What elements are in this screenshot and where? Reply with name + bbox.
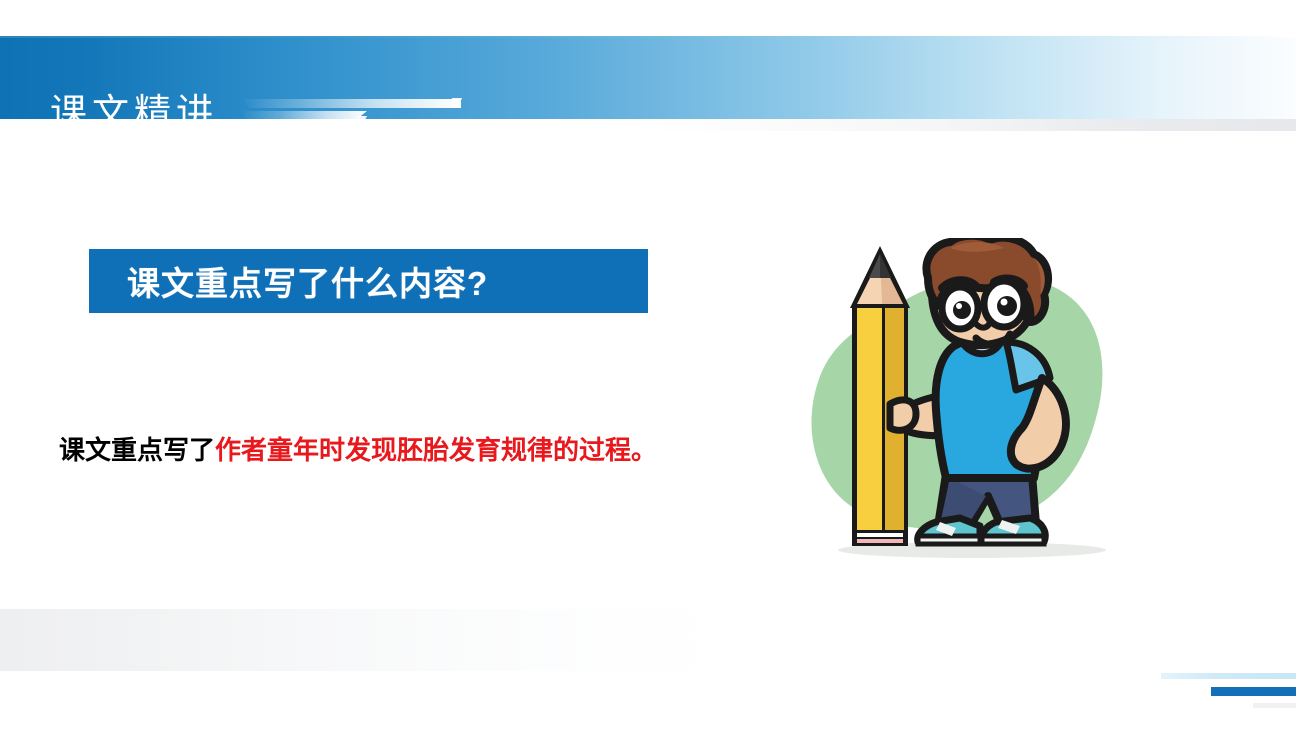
answer-highlight: 作者童年时发现胚胎发育规律的过程。 <box>215 435 657 465</box>
bottom-right-ghost-bar <box>1253 703 1296 708</box>
header-decor-line-short <box>243 111 367 119</box>
page-title: 课文精讲 <box>50 82 218 144</box>
bottom-right-blue-bar <box>1211 687 1296 696</box>
answer-prefix: 课文重点写了 <box>59 435 215 465</box>
slide-canvas: 课文精讲 课文重点写了什么内容? 课文重点写了作者童年时发现胚胎发育规律的过程。 <box>0 0 1296 729</box>
giant-pencil <box>850 246 910 546</box>
answer-sentence: 课文重点写了作者童年时发现胚胎发育规律的过程。 <box>59 431 657 469</box>
bottom-left-gray-band <box>0 609 740 671</box>
question-title-text: 课文重点写了什么内容? <box>127 257 488 305</box>
illustration-boy-with-pencil <box>790 238 1152 580</box>
question-title-box: 课文重点写了什么内容? <box>89 249 648 313</box>
header-decor-line-long <box>243 99 461 108</box>
header-banner: 课文精讲 <box>0 38 1296 119</box>
header-undershade <box>0 119 1296 131</box>
shoe-right <box>982 518 1046 544</box>
bottom-right-light-bar <box>1161 673 1296 679</box>
